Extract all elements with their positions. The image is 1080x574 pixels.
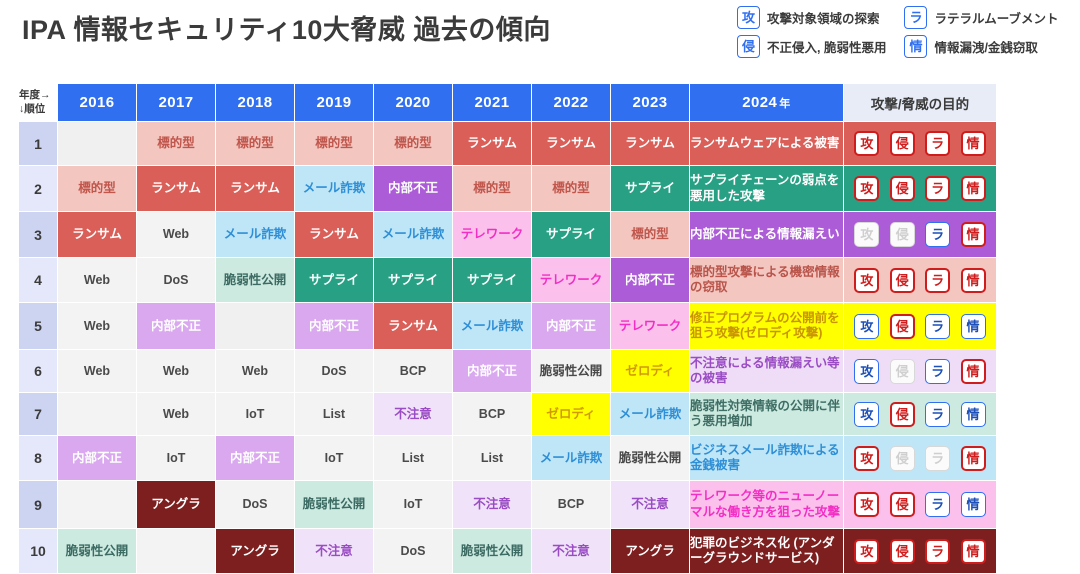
- threat-cell-2016-rank6: Web: [58, 350, 136, 392]
- column-header-2020: 2020: [374, 84, 452, 121]
- badge-exfiltration-icon: 情: [961, 446, 986, 471]
- purpose-cell-rank7: 攻侵ラ情: [844, 393, 996, 435]
- threat-cell-2016-rank4: Web: [58, 258, 136, 302]
- badge-exfiltration-icon: 情: [961, 492, 986, 517]
- badge-exfiltration-icon: 情: [961, 176, 986, 201]
- threat-trend-table: 年度→ ↓順位 2016 2017 2018 2019 2020 2021 20…: [18, 83, 997, 574]
- threat-cell-2018-rank7: IoT: [216, 393, 294, 435]
- threat-cell-2022-rank3: サプライ: [532, 212, 610, 257]
- threat-cell-2019-rank7: List: [295, 393, 373, 435]
- threat-cell-2024-rank7: 脆弱性対策情報の公開に伴う悪用増加: [690, 393, 843, 435]
- threat-cell-2021-rank4: サプライ: [453, 258, 531, 302]
- threat-cell-2016-rank8: 内部不正: [58, 436, 136, 480]
- badge-group: 攻侵ラ情: [844, 268, 996, 293]
- threat-cell-2022-rank1: ランサム: [532, 122, 610, 165]
- threat-cell-2018-rank8: 内部不正: [216, 436, 294, 480]
- threat-cell-2018-rank5: [216, 303, 294, 349]
- rank-cell: 6: [19, 350, 57, 392]
- threat-cell-2023-rank2: サプライ: [611, 166, 689, 211]
- threat-cell-2016-rank7: [58, 393, 136, 435]
- badge-exfiltration-icon: 情: [961, 359, 986, 384]
- table-row: 8内部不正IoT内部不正IoTListListメール詐欺脆弱性公開ビジネスメール…: [19, 436, 996, 480]
- legend-item-1: ラ ラテラルムーブメント: [904, 6, 1058, 29]
- threat-cell-2019-rank6: DoS: [295, 350, 373, 392]
- threat-cell-2023-rank8: 脆弱性公開: [611, 436, 689, 480]
- threat-cell-2016-rank5: Web: [58, 303, 136, 349]
- corner-bottom-label: ↓順位: [19, 103, 45, 115]
- threat-cell-2024-rank2: サプライチェーンの弱点を悪用した攻撃: [690, 166, 843, 211]
- badge-exfiltration-icon: 情: [961, 222, 986, 247]
- page-title: IPA 情報セキュリティ10大脅威 過去の傾向: [22, 8, 551, 47]
- badge-intrusion-icon: 侵: [890, 446, 915, 471]
- purpose-cell-rank6: 攻侵ラ情: [844, 350, 996, 392]
- threat-cell-2021-rank2: 標的型: [453, 166, 531, 211]
- threat-cell-2017-rank5: 内部不正: [137, 303, 215, 349]
- threat-cell-2020-rank9: IoT: [374, 481, 452, 528]
- table-row: 2標的型ランサムランサムメール詐欺内部不正標的型標的型サプライサプライチェーンの…: [19, 166, 996, 211]
- threat-cell-2017-rank7: Web: [137, 393, 215, 435]
- badge-attack-surface-icon: 攻: [854, 268, 879, 293]
- badge-intrusion-icon: 侵: [890, 539, 915, 564]
- threat-cell-2023-rank9: 不注意: [611, 481, 689, 528]
- threat-cell-2020-rank3: メール詐欺: [374, 212, 452, 257]
- rank-cell: 1: [19, 122, 57, 165]
- corner-header: 年度→ ↓順位: [19, 84, 57, 121]
- threat-cell-2021-rank6: 内部不正: [453, 350, 531, 392]
- threat-cell-2020-rank10: DoS: [374, 529, 452, 573]
- threat-cell-2016-rank3: ランサム: [58, 212, 136, 257]
- rank-cell: 2: [19, 166, 57, 211]
- threat-cell-2017-rank4: DoS: [137, 258, 215, 302]
- badge-lateral-movement-icon: ラ: [925, 222, 950, 247]
- badge-group: 攻侵ラ情: [844, 402, 996, 427]
- badge-attack-surface-icon: 攻: [854, 222, 879, 247]
- purpose-cell-rank5: 攻侵ラ情: [844, 303, 996, 349]
- column-header-2019: 2019: [295, 84, 373, 121]
- legend-label-0: 攻撃対象領域の探索: [767, 8, 880, 27]
- column-header-purpose: 攻撃/脅威の目的: [844, 84, 996, 121]
- threat-cell-2023-rank7: メール詐欺: [611, 393, 689, 435]
- threat-cell-2023-rank6: ゼロディ: [611, 350, 689, 392]
- threat-cell-2019-rank1: 標的型: [295, 122, 373, 165]
- threat-cell-2018-rank2: ランサム: [216, 166, 294, 211]
- threat-cell-2016-rank1: [58, 122, 136, 165]
- threat-cell-2021-rank1: ランサム: [453, 122, 531, 165]
- badge-group: 攻侵ラ情: [844, 359, 996, 384]
- purpose-cell-rank1: 攻侵ラ情: [844, 122, 996, 165]
- table-row: 4WebDoS脆弱性公開サプライサプライサプライテレワーク内部不正標的型攻撃によ…: [19, 258, 996, 302]
- threat-cell-2018-rank1: 標的型: [216, 122, 294, 165]
- badge-attack-surface-icon: 攻: [854, 402, 879, 427]
- threat-cell-2022-rank2: 標的型: [532, 166, 610, 211]
- column-header-2016: 2016: [58, 84, 136, 121]
- threat-cell-2019-rank10: 不注意: [295, 529, 373, 573]
- column-header-2024-year: 2024: [742, 94, 777, 111]
- legend-label-2: 不正侵入, 脆弱性悪用: [767, 37, 886, 56]
- legend-label-3: 情報漏洩/金銭窃取: [934, 37, 1037, 56]
- threat-cell-2019-rank3: ランサム: [295, 212, 373, 257]
- badge-intrusion-icon: 侵: [890, 268, 915, 293]
- badge-attack-surface-icon: 攻: [854, 176, 879, 201]
- threat-cell-2018-rank10: アングラ: [216, 529, 294, 573]
- threat-cell-2021-rank3: テレワーク: [453, 212, 531, 257]
- badge-intrusion-icon: 侵: [890, 492, 915, 517]
- threat-cell-2019-rank4: サプライ: [295, 258, 373, 302]
- threat-cell-2024-rank1: ランサムウェアによる被害: [690, 122, 843, 165]
- threat-cell-2019-rank5: 内部不正: [295, 303, 373, 349]
- badge-exfiltration-icon: 情: [961, 268, 986, 293]
- column-header-2024: 2024年: [690, 84, 843, 121]
- badge-exfiltration-icon: 情: [961, 402, 986, 427]
- threat-cell-2024-rank5: 修正プログラムの公開前を狙う攻撃(ゼロディ攻撃): [690, 303, 843, 349]
- threat-cell-2020-rank1: 標的型: [374, 122, 452, 165]
- badge-lateral-movement-icon: ラ: [925, 446, 950, 471]
- badge-attack-surface-icon: 攻: [854, 539, 879, 564]
- column-header-2018: 2018: [216, 84, 294, 121]
- badge-exfiltration-icon: 情: [961, 314, 986, 339]
- purpose-cell-rank9: 攻侵ラ情: [844, 481, 996, 528]
- threat-cell-2017-rank8: IoT: [137, 436, 215, 480]
- legend-icon-intrusion: 侵: [737, 35, 760, 58]
- threat-cell-2021-rank8: List: [453, 436, 531, 480]
- badge-lateral-movement-icon: ラ: [925, 402, 950, 427]
- rank-cell: 8: [19, 436, 57, 480]
- threat-cell-2023-rank3: 標的型: [611, 212, 689, 257]
- rank-cell: 4: [19, 258, 57, 302]
- purpose-cell-rank10: 攻侵ラ情: [844, 529, 996, 573]
- column-header-2021: 2021: [453, 84, 531, 121]
- legend-icon-attack-surface: 攻: [737, 6, 760, 29]
- threat-cell-2022-rank5: 内部不正: [532, 303, 610, 349]
- legend-icon-lateral-movement: ラ: [904, 6, 927, 29]
- rank-cell: 9: [19, 481, 57, 528]
- threat-cell-2018-rank6: Web: [216, 350, 294, 392]
- table-row: 6WebWebWebDoSBCP内部不正脆弱性公開ゼロディ不注意による情報漏えい…: [19, 350, 996, 392]
- threat-cell-2018-rank3: メール詐欺: [216, 212, 294, 257]
- column-header-2022: 2022: [532, 84, 610, 121]
- purpose-cell-rank8: 攻侵ラ情: [844, 436, 996, 480]
- badge-attack-surface-icon: 攻: [854, 131, 879, 156]
- threat-cell-2024-rank4: 標的型攻撃による機密情報の窃取: [690, 258, 843, 302]
- rank-cell: 10: [19, 529, 57, 573]
- threat-cell-2017-rank2: ランサム: [137, 166, 215, 211]
- threat-cell-2020-rank6: BCP: [374, 350, 452, 392]
- badge-attack-surface-icon: 攻: [854, 492, 879, 517]
- threat-cell-2019-rank8: IoT: [295, 436, 373, 480]
- threat-cell-2023-rank1: ランサム: [611, 122, 689, 165]
- threat-cell-2024-rank6: 不注意による情報漏えい等の被害: [690, 350, 843, 392]
- table-row: 5Web内部不正内部不正ランサムメール詐欺内部不正テレワーク修正プログラムの公開…: [19, 303, 996, 349]
- threat-cell-2021-rank5: メール詐欺: [453, 303, 531, 349]
- badge-lateral-movement-icon: ラ: [925, 359, 950, 384]
- corner-top-label: 年度→: [19, 89, 51, 101]
- column-header-2017: 2017: [137, 84, 215, 121]
- threat-cell-2023-rank5: テレワーク: [611, 303, 689, 349]
- badge-intrusion-icon: 侵: [890, 131, 915, 156]
- badge-intrusion-icon: 侵: [890, 359, 915, 384]
- badge-lateral-movement-icon: ラ: [925, 539, 950, 564]
- threat-cell-2019-rank9: 脆弱性公開: [295, 481, 373, 528]
- threat-cell-2021-rank9: 不注意: [453, 481, 531, 528]
- badge-intrusion-icon: 侵: [890, 402, 915, 427]
- threat-cell-2018-rank9: DoS: [216, 481, 294, 528]
- badge-group: 攻侵ラ情: [844, 222, 996, 247]
- purpose-cell-rank4: 攻侵ラ情: [844, 258, 996, 302]
- header-row: 年度→ ↓順位 2016 2017 2018 2019 2020 2021 20…: [19, 84, 996, 121]
- purpose-cell-rank2: 攻侵ラ情: [844, 166, 996, 211]
- legend-item-0: 攻 攻撃対象領域の探索: [737, 6, 886, 29]
- threat-cell-2022-rank8: メール詐欺: [532, 436, 610, 480]
- threat-cell-2017-rank6: Web: [137, 350, 215, 392]
- threat-cell-2022-rank10: 不注意: [532, 529, 610, 573]
- threat-cell-2021-rank7: BCP: [453, 393, 531, 435]
- threat-cell-2016-rank9: [58, 481, 136, 528]
- badge-intrusion-icon: 侵: [890, 176, 915, 201]
- threat-cell-2023-rank4: 内部不正: [611, 258, 689, 302]
- table-row: 1標的型標的型標的型標的型ランサムランサムランサムランサムウェアによる被害攻侵ラ…: [19, 122, 996, 165]
- legend-item-3: 情 情報漏洩/金銭窃取: [904, 35, 1058, 58]
- badge-attack-surface-icon: 攻: [854, 446, 879, 471]
- threat-cell-2023-rank10: アングラ: [611, 529, 689, 573]
- threat-cell-2017-rank10: [137, 529, 215, 573]
- threat-cell-2018-rank4: 脆弱性公開: [216, 258, 294, 302]
- threat-cell-2024-rank10: 犯罪のビジネス化 (アンダーグラウンドサービス): [690, 529, 843, 573]
- table-row: 9アングラDoS脆弱性公開IoT不注意BCP不注意テレワーク等のニューノーマルな…: [19, 481, 996, 528]
- threat-cell-2020-rank2: 内部不正: [374, 166, 452, 211]
- badge-exfiltration-icon: 情: [961, 539, 986, 564]
- threat-cell-2020-rank8: List: [374, 436, 452, 480]
- table-header: 年度→ ↓順位 2016 2017 2018 2019 2020 2021 20…: [19, 84, 996, 121]
- threat-cell-2020-rank5: ランサム: [374, 303, 452, 349]
- badge-group: 攻侵ラ情: [844, 446, 996, 471]
- table-row: 10脆弱性公開アングラ不注意DoS脆弱性公開不注意アングラ犯罪のビジネス化 (ア…: [19, 529, 996, 573]
- threat-cell-2020-rank4: サプライ: [374, 258, 452, 302]
- threat-cell-2016-rank2: 標的型: [58, 166, 136, 211]
- legend-icon-exfiltration: 情: [904, 35, 927, 58]
- table-body: 1標的型標的型標的型標的型ランサムランサムランサムランサムウェアによる被害攻侵ラ…: [19, 122, 996, 573]
- legend-item-2: 侵 不正侵入, 脆弱性悪用: [737, 35, 886, 58]
- badge-lateral-movement-icon: ラ: [925, 176, 950, 201]
- rank-cell: 3: [19, 212, 57, 257]
- badge-attack-surface-icon: 攻: [854, 314, 879, 339]
- purpose-cell-rank3: 攻侵ラ情: [844, 212, 996, 257]
- badge-lateral-movement-icon: ラ: [925, 268, 950, 293]
- table-row: 7WebIoTList不注意BCPゼロディメール詐欺脆弱性対策情報の公開に伴う悪…: [19, 393, 996, 435]
- threat-cell-2022-rank6: 脆弱性公開: [532, 350, 610, 392]
- threat-cell-2022-rank7: ゼロディ: [532, 393, 610, 435]
- badge-intrusion-icon: 侵: [890, 314, 915, 339]
- threat-cell-2016-rank10: 脆弱性公開: [58, 529, 136, 573]
- badge-group: 攻侵ラ情: [844, 492, 996, 517]
- threat-cell-2017-rank3: Web: [137, 212, 215, 257]
- threat-cell-2019-rank2: メール詐欺: [295, 166, 373, 211]
- threat-cell-2022-rank9: BCP: [532, 481, 610, 528]
- table-row: 3ランサムWebメール詐欺ランサムメール詐欺テレワークサプライ標的型内部不正によ…: [19, 212, 996, 257]
- rank-cell: 7: [19, 393, 57, 435]
- page-root: IPA 情報セキュリティ10大脅威 過去の傾向 攻 攻撃対象領域の探索 ラ ラテ…: [0, 0, 1080, 553]
- legend: 攻 攻撃対象領域の探索 ラ ラテラルムーブメント 侵 不正侵入, 脆弱性悪用 情…: [737, 6, 1058, 58]
- threat-cell-2017-rank9: アングラ: [137, 481, 215, 528]
- threat-cell-2024-rank3: 内部不正による情報漏えい: [690, 212, 843, 257]
- badge-group: 攻侵ラ情: [844, 131, 996, 156]
- badge-exfiltration-icon: 情: [961, 131, 986, 156]
- column-header-2023: 2023: [611, 84, 689, 121]
- threat-cell-2021-rank10: 脆弱性公開: [453, 529, 531, 573]
- badge-lateral-movement-icon: ラ: [925, 314, 950, 339]
- badge-lateral-movement-icon: ラ: [925, 131, 950, 156]
- badge-lateral-movement-icon: ラ: [925, 492, 950, 517]
- legend-label-1: ラテラルムーブメント: [934, 8, 1058, 27]
- threat-cell-2020-rank7: 不注意: [374, 393, 452, 435]
- badge-intrusion-icon: 侵: [890, 222, 915, 247]
- threat-cell-2022-rank4: テレワーク: [532, 258, 610, 302]
- badge-group: 攻侵ラ情: [844, 539, 996, 564]
- threat-cell-2017-rank1: 標的型: [137, 122, 215, 165]
- column-header-2024-suffix: 年: [779, 98, 790, 110]
- rank-cell: 5: [19, 303, 57, 349]
- badge-group: 攻侵ラ情: [844, 314, 996, 339]
- badge-attack-surface-icon: 攻: [854, 359, 879, 384]
- badge-group: 攻侵ラ情: [844, 176, 996, 201]
- threat-cell-2024-rank8: ビジネスメール詐欺による金銭被害: [690, 436, 843, 480]
- threat-cell-2024-rank9: テレワーク等のニューノーマルな働き方を狙った攻撃: [690, 481, 843, 528]
